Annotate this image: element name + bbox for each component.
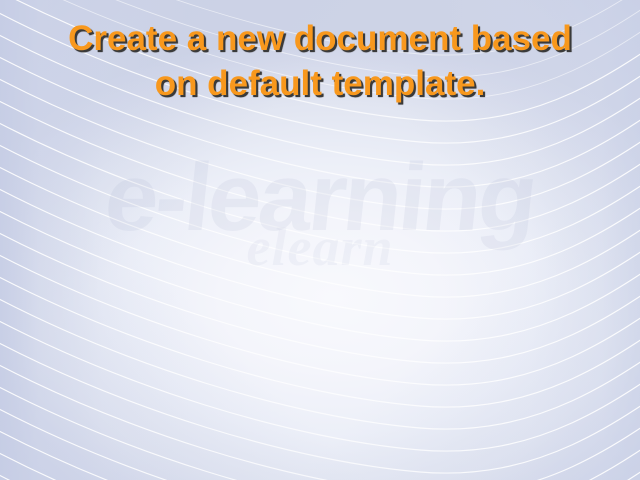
slide-background [0, 0, 640, 480]
presentation-slide: e-learning elearn Create a new document … [0, 0, 640, 480]
